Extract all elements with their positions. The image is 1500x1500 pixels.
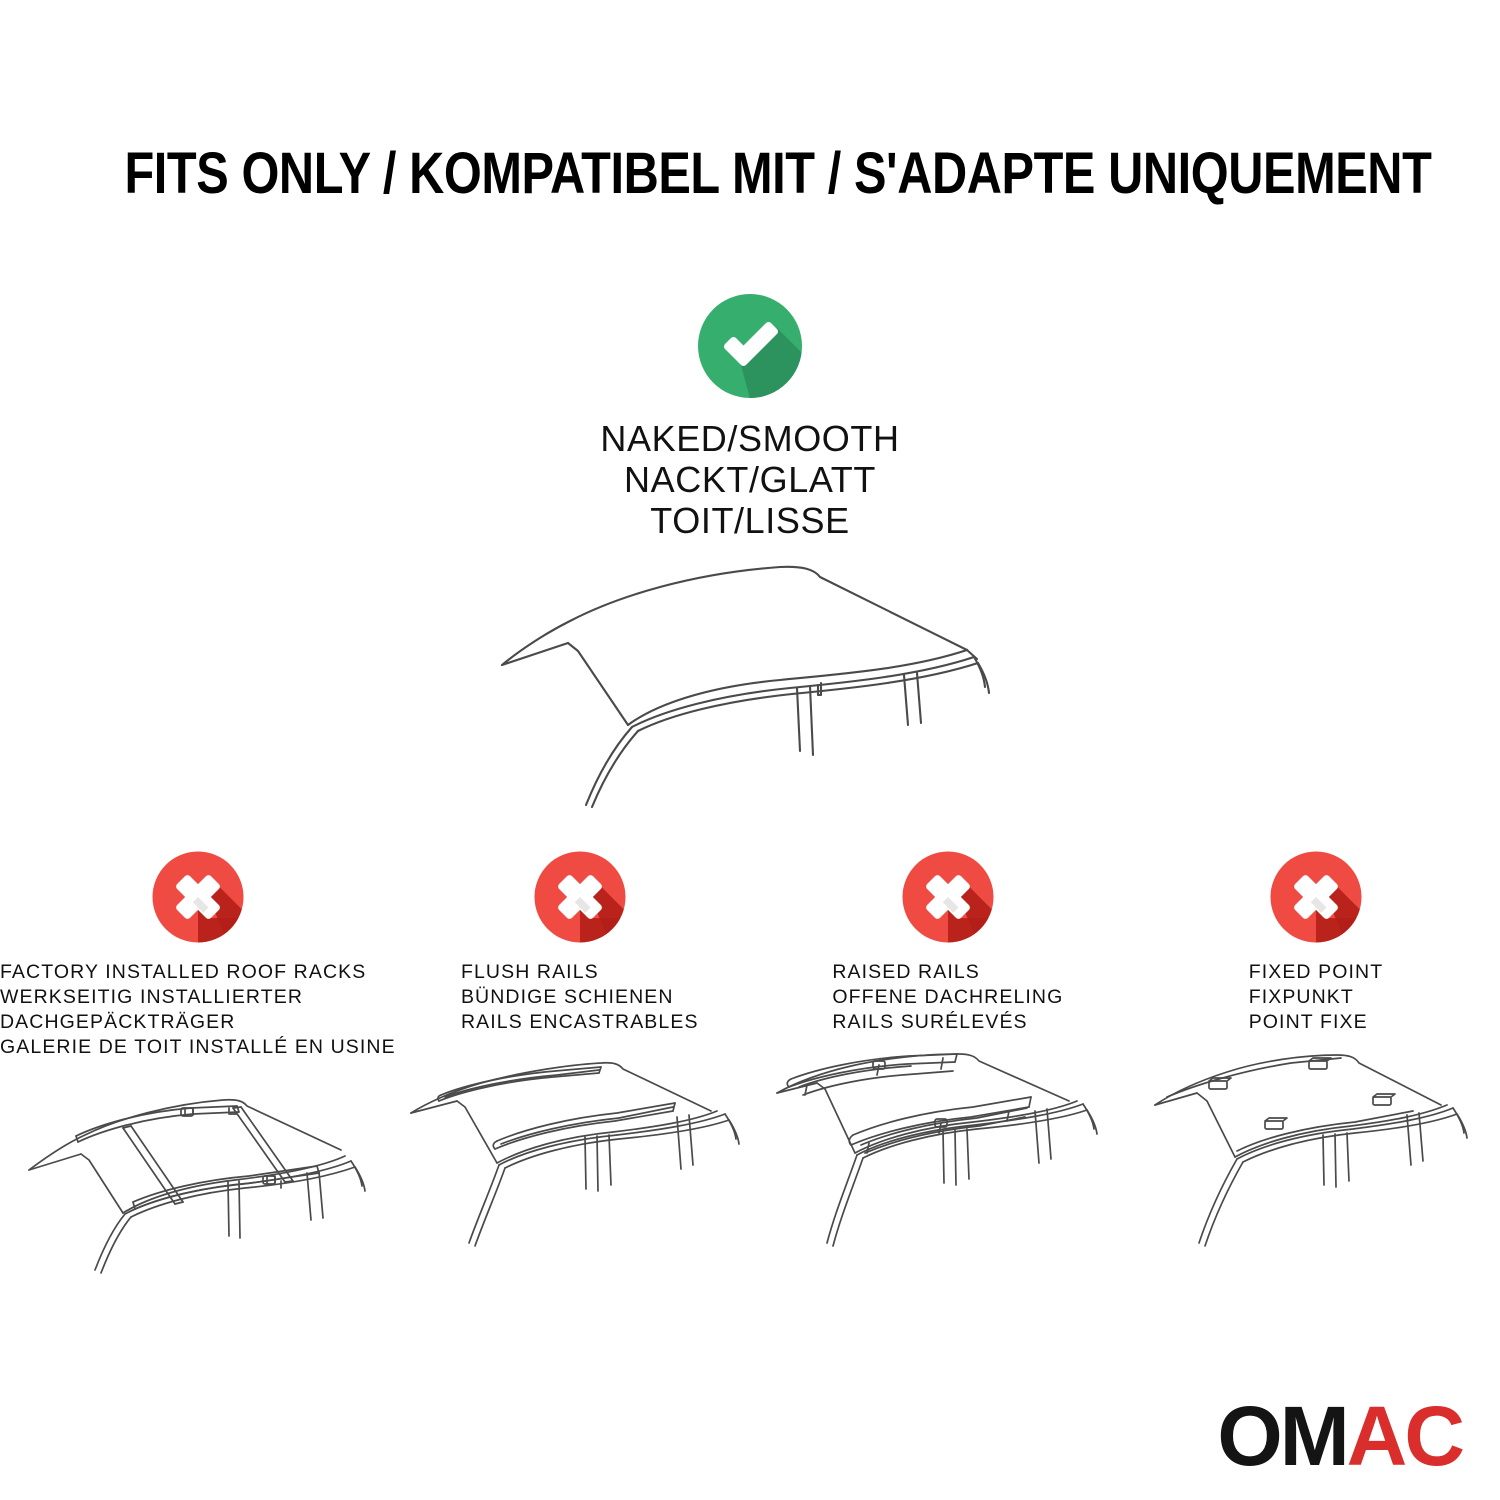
compatibility-panel-raised-rails: RAISED RAILS OFFENE DACHRELING RAILS SUR… (764, 848, 1132, 1263)
illustration-naked-smooth-roof (375, 555, 1125, 825)
omac-logo: OM AC (1217, 1394, 1462, 1478)
caption-line: FIXED POINT (1249, 960, 1384, 985)
caption-line: FACTORY INSTALLED ROOF RACKS (0, 960, 396, 985)
caption-raised-rails: RAISED RAILS OFFENE DACHRELING RAILS SUR… (832, 960, 1063, 1035)
cross-circle-icon (899, 848, 997, 946)
caption-line: DACHGEPÄCKTRÄGER (0, 1010, 396, 1035)
illustration-raised-rails-roof (773, 1053, 1123, 1263)
check-circle-icon (694, 290, 806, 402)
illustration-factory-racks-roof (23, 1078, 373, 1288)
illustration-flush-rails-roof (405, 1053, 755, 1263)
car-roof-flush-rails-drawing (405, 1053, 755, 1253)
caption-naked-smooth: NAKED/SMOOTH NACKT/GLATT TOIT/LISSE (375, 418, 1125, 541)
compatibility-panel-flush-rails: FLUSH RAILS BÜNDIGE SCHIENEN RAILS ENCAS… (396, 848, 764, 1263)
compatibility-panel-factory-racks: FACTORY INSTALLED ROOF RACKS WERKSEITIG … (0, 848, 396, 1288)
caption-factory-racks: FACTORY INSTALLED ROOF RACKS WERKSEITIG … (0, 960, 396, 1060)
caption-line: NAKED/SMOOTH (375, 418, 1125, 459)
caption-line: GALERIE DE TOIT INSTALLÉ EN USINE (0, 1035, 396, 1060)
title-bar: FITS ONLY / KOMPATIBEL MIT / S'ADAPTE UN… (0, 104, 1500, 244)
cross-circle-icon (149, 848, 247, 946)
logo-text-om: OM (1217, 1394, 1346, 1478)
caption-flush-rails: FLUSH RAILS BÜNDIGE SCHIENEN RAILS ENCAS… (461, 960, 699, 1035)
logo-text-ac: AC (1347, 1394, 1462, 1478)
cross-circle-icon (1267, 848, 1365, 946)
caption-line: OFFENE DACHRELING (832, 985, 1063, 1010)
caption-line: BÜNDIGE SCHIENEN (461, 985, 699, 1010)
compatibility-panel-fixed-point: FIXED POINT FIXPUNKT POINT FIXE (1132, 848, 1500, 1263)
caption-line: RAISED RAILS (832, 960, 1063, 985)
check-badge-wrap (375, 290, 1125, 402)
caption-line: RAILS ENCASTRABLES (461, 1010, 699, 1035)
caption-line: RAILS SURÉLEVÉS (832, 1010, 1063, 1035)
page-title: FITS ONLY / KOMPATIBEL MIT / S'ADAPTE UN… (124, 143, 1431, 205)
car-roof-factory-racks-drawing (23, 1078, 373, 1278)
caption-line: FIXPUNKT (1249, 985, 1384, 1010)
caption-line: TOIT/LISSE (375, 500, 1125, 541)
car-roof-raised-rails-drawing (773, 1053, 1123, 1253)
compatibility-panel-naked-smooth: NAKED/SMOOTH NACKT/GLATT TOIT/LISSE (375, 290, 1125, 825)
car-roof-naked-smooth-drawing (480, 555, 1020, 825)
incompatible-roof-types-row: FACTORY INSTALLED ROOF RACKS WERKSEITIG … (0, 848, 1500, 1288)
caption-line: WERKSEITIG INSTALLIERTER (0, 985, 396, 1010)
car-roof-fixed-point-drawing (1151, 1053, 1481, 1253)
caption-line: NACKT/GLATT (375, 459, 1125, 500)
illustration-fixed-point-roof (1151, 1053, 1481, 1263)
caption-line: FLUSH RAILS (461, 960, 699, 985)
caption-line: POINT FIXE (1249, 1010, 1384, 1035)
caption-fixed-point: FIXED POINT FIXPUNKT POINT FIXE (1249, 960, 1384, 1035)
cross-circle-icon (531, 848, 629, 946)
